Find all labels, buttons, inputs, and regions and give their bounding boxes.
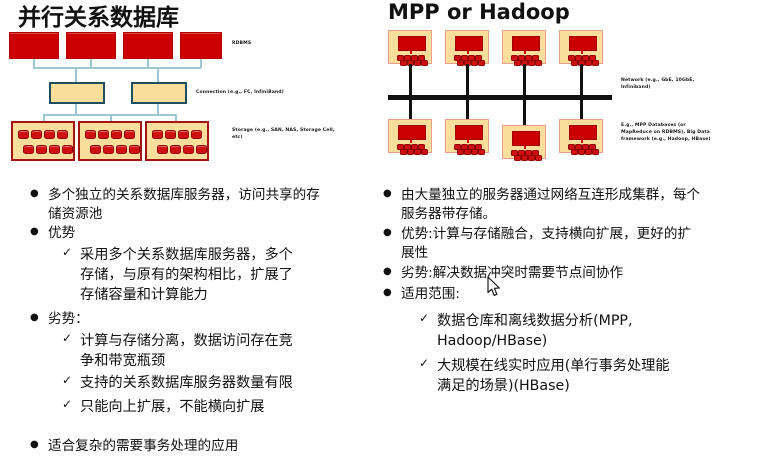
list-item-text: 由大量独立的服务器通过网络互连形成集群，每个 服务器带存储。 — [401, 186, 773, 224]
list-item: ● 由大量独立的服务器通过网络互连形成集群，每个 服务器带存储。 — [383, 186, 773, 224]
list-item: ✓ 只能向上扩展，不能横向扩展 — [62, 397, 372, 417]
check-icon: ✓ — [419, 357, 429, 369]
left-bullet-list: ● 多个独立的关系数据库服务器，访问共享的存 储资源池 ● 优势 ✓ 采用多个关… — [0, 0, 380, 469]
list-item: ✓ 大规模在线实时应用(单行事务处理能 满足的场景)(HBase) — [419, 356, 769, 396]
list-item-text: 劣势： — [48, 310, 370, 329]
left-panel: 并行关系数据库 — [0, 0, 380, 469]
check-icon: ✓ — [62, 246, 72, 258]
right-bullet-list: ● 由大量独立的服务器通过网络互连形成集群，每个 服务器带存储。 ● 优势:计算… — [380, 0, 778, 469]
slide-canvas: 并行关系数据库 — [0, 0, 778, 469]
right-panel: MPP or Hadoop — [380, 0, 778, 469]
list-item-text: 优势:计算与存储融合，支持横向扩展，更好的扩 展性 — [401, 225, 773, 263]
list-item: ● 适合复杂的需要事务处理的应用 — [30, 437, 370, 456]
list-item-text: 适合复杂的需要事务处理的应用 — [48, 437, 370, 456]
bullet-disc-icon: ● — [30, 313, 39, 323]
list-item: ✓ 数据仓库和离线数据分析(MPP, Hadoop/HBase) — [419, 311, 769, 351]
list-item: ✓ 采用多个关系数据库服务器，多个 存储，与原有的架构相比，扩展了 存储容量和计… — [62, 245, 372, 305]
list-item: ● 优势 — [30, 224, 370, 243]
list-item: ● 优势:计算与存储融合，支持横向扩展，更好的扩 展性 — [383, 225, 773, 263]
list-item-text: 劣势:解决数据冲突时需要节点间协作 — [401, 264, 773, 283]
check-icon: ✓ — [62, 332, 72, 344]
bullet-disc-icon: ● — [383, 189, 392, 199]
list-item: ● 适用范围: — [383, 285, 773, 304]
list-item: ● 多个独立的关系数据库服务器，访问共享的存 储资源池 — [30, 186, 370, 224]
list-item-text: 数据仓库和离线数据分析(MPP, Hadoop/HBase) — [437, 311, 769, 351]
check-icon: ✓ — [62, 398, 72, 410]
list-item-text: 优势 — [48, 224, 370, 243]
mouse-pointer-icon — [487, 276, 502, 303]
list-item: ● 劣势:解决数据冲突时需要节点间协作 — [383, 264, 773, 283]
bullet-disc-icon: ● — [383, 288, 392, 298]
list-item-text: 大规模在线实时应用(单行事务处理能 满足的场景)(HBase) — [437, 356, 769, 396]
list-item: ● 劣势： — [30, 310, 370, 329]
list-item-text: 多个独立的关系数据库服务器，访问共享的存 储资源池 — [48, 186, 370, 224]
check-icon: ✓ — [62, 374, 72, 386]
list-item-text: 计算与存储分离，数据访问存在竞 争和带宽瓶颈 — [80, 331, 372, 371]
list-item-text: 适用范围: — [401, 285, 773, 304]
bullet-disc-icon: ● — [30, 440, 39, 450]
list-item-text: 采用多个关系数据库服务器，多个 存储，与原有的架构相比，扩展了 存储容量和计算能… — [80, 245, 372, 305]
list-item: ✓ 支持的关系数据库服务器数量有限 — [62, 373, 372, 393]
check-icon: ✓ — [419, 312, 429, 324]
list-item: ✓ 计算与存储分离，数据访问存在竞 争和带宽瓶颈 — [62, 331, 372, 371]
bullet-disc-icon: ● — [383, 267, 392, 277]
bullet-disc-icon: ● — [30, 227, 39, 237]
list-item-text: 支持的关系数据库服务器数量有限 — [80, 373, 372, 393]
bullet-disc-icon: ● — [383, 228, 392, 238]
list-item-text: 只能向上扩展，不能横向扩展 — [80, 397, 372, 417]
bullet-disc-icon: ● — [30, 189, 39, 199]
